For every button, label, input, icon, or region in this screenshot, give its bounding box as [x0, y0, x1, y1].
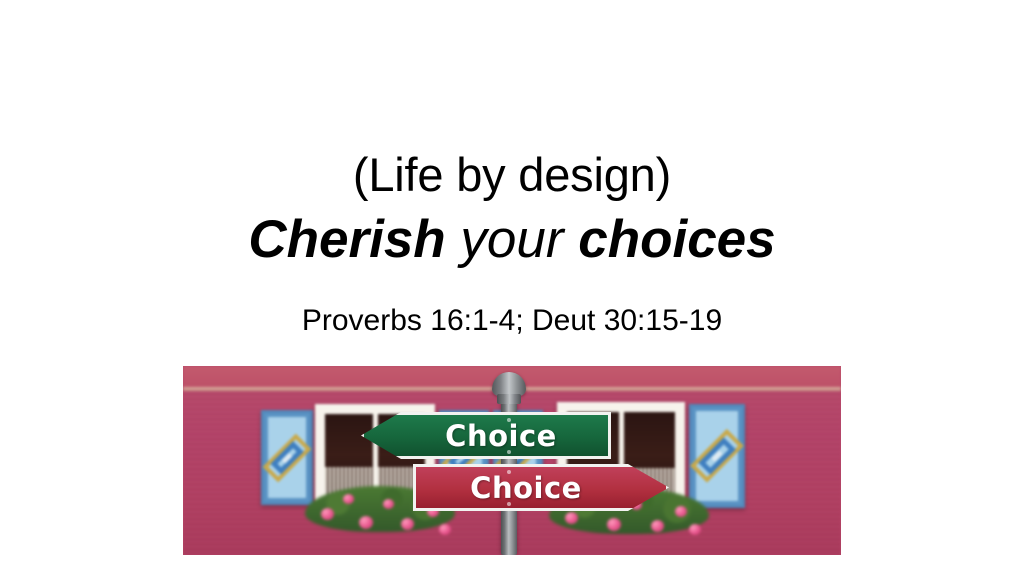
flower-bloom: [439, 524, 451, 535]
flower-bloom: [607, 518, 621, 531]
flower-bloom: [343, 494, 354, 504]
title-word-cherish: Cherish: [248, 210, 445, 269]
flower-bloom: [401, 518, 414, 530]
sign-bolt: [507, 502, 511, 506]
choice-sign-right-label: Choice: [470, 471, 582, 505]
choice-sign-left-label: Choice: [445, 419, 557, 453]
shutter-panel: [268, 417, 306, 498]
shutter-left-outer: [261, 410, 313, 505]
choice-sign-right: Choice: [413, 464, 669, 511]
title-word-your: your: [446, 210, 579, 269]
sign-bolt: [507, 418, 511, 422]
flower-bloom: [675, 506, 687, 517]
flower-bloom: [359, 516, 373, 529]
title-block: (Life by design) Cherish your choices: [0, 146, 1024, 272]
shutter-panel: [696, 411, 738, 501]
sign-bolt: [507, 450, 511, 454]
flower-bloom: [565, 512, 578, 524]
slide: (Life by design) Cherish your choices Pr…: [0, 0, 1024, 576]
page-title-line-1: (Life by design): [0, 146, 1024, 204]
flower-bloom: [321, 508, 334, 520]
choice-sign-left: Choice: [361, 412, 611, 459]
signpost-collar: [497, 394, 521, 404]
sign-bolt: [507, 470, 511, 474]
scripture-reference: Proverbs 16:1-4; Deut 30:15-19: [0, 302, 1024, 340]
flower-bloom: [689, 524, 701, 535]
flower-bloom: [383, 499, 394, 509]
page-title-line-2: Cherish your choices: [0, 208, 1024, 272]
signpost-photo: Choice Choice: [183, 366, 841, 555]
flower-bloom: [651, 520, 664, 532]
shutter-right-outer: [689, 404, 745, 508]
title-word-choices: choices: [578, 210, 775, 269]
